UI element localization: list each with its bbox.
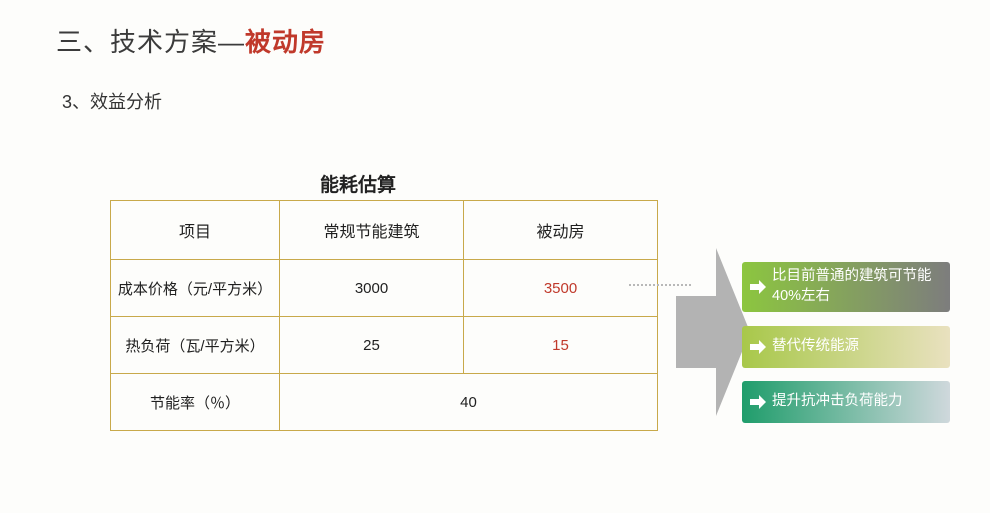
page-title-accent: 被动房 xyxy=(245,27,326,57)
table-cell-item: 节能率（％） xyxy=(111,374,280,431)
callout-item-alternative-energy: 替代传统能源 xyxy=(742,326,950,368)
table-header-cell-passive: 被动房 xyxy=(464,201,658,260)
table-cell-item: 热负荷（瓦/平方米） xyxy=(111,317,280,374)
table-cell-passive: 3500 xyxy=(464,260,658,317)
callout-label: 替代传统能源 xyxy=(772,337,859,357)
table-row: 成本价格（元/平方米） 3000 3500 xyxy=(111,260,658,317)
small-arrow-icon xyxy=(750,340,766,354)
callout-label: 提升抗冲击负荷能力 xyxy=(772,392,903,412)
table-caption: 能耗估算 xyxy=(320,170,396,197)
small-arrow-icon xyxy=(750,280,766,294)
table-header-cell-item: 项目 xyxy=(111,201,280,260)
table-header-row: 项目 常规节能建筑 被动房 xyxy=(111,201,658,260)
callout-item-energy-saving: 比目前普通的建筑可节能40%左右 xyxy=(742,262,950,312)
energy-estimate-table: 项目 常规节能建筑 被动房 成本价格（元/平方米） 3000 3500 热负荷（… xyxy=(110,200,658,431)
page-title: 三、技术方案—被动房 xyxy=(56,22,326,59)
table-header-cell-normal: 常规节能建筑 xyxy=(280,201,464,260)
table-cell-item: 成本价格（元/平方米） xyxy=(111,260,280,317)
table-cell-merged-value: 40 xyxy=(280,374,658,431)
small-arrow-icon xyxy=(750,395,766,409)
slide-canvas: 三、技术方案—被动房 3、效益分析 能耗估算 项目 常规节能建筑 被动房 成本价… xyxy=(0,0,990,513)
table-row: 节能率（％） 40 xyxy=(111,374,658,431)
table-cell-normal: 3000 xyxy=(280,260,464,317)
table-row: 热负荷（瓦/平方米） 25 15 xyxy=(111,317,658,374)
table-cell-normal: 25 xyxy=(280,317,464,374)
section-subtitle: 3、效益分析 xyxy=(62,88,162,114)
right-arrow-icon xyxy=(676,248,750,416)
callout-item-impact-load: 提升抗冲击负荷能力 xyxy=(742,381,950,423)
table-cell-passive: 15 xyxy=(464,317,658,374)
callout-label: 比目前普通的建筑可节能40%左右 xyxy=(772,267,942,306)
page-title-main: 三、技术方案— xyxy=(56,27,245,57)
